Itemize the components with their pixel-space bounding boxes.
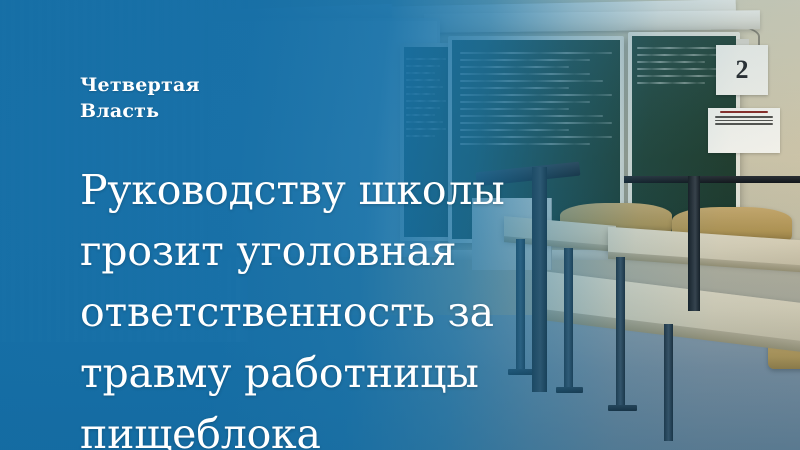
headline-line: ответственность за (80, 282, 550, 343)
headline-line: травму работницы (80, 343, 550, 404)
site-logo[interactable]: Четвертая Власть (80, 72, 200, 124)
site-logo-line-1: Четвертая (80, 72, 200, 98)
article-headline[interactable]: Руководству школы грозит уголовная ответ… (80, 160, 550, 450)
hero-content: Четвертая Власть Руководству школы грози… (0, 0, 800, 450)
article-hero-card: 2 ЧОЯ Четвертая (0, 0, 800, 450)
site-logo-line-2: Власть (80, 98, 200, 124)
headline-line: Руководству школы (80, 160, 550, 221)
headline-line: пищеблока (80, 404, 550, 450)
headline-line: грозит уголовная (80, 221, 550, 282)
